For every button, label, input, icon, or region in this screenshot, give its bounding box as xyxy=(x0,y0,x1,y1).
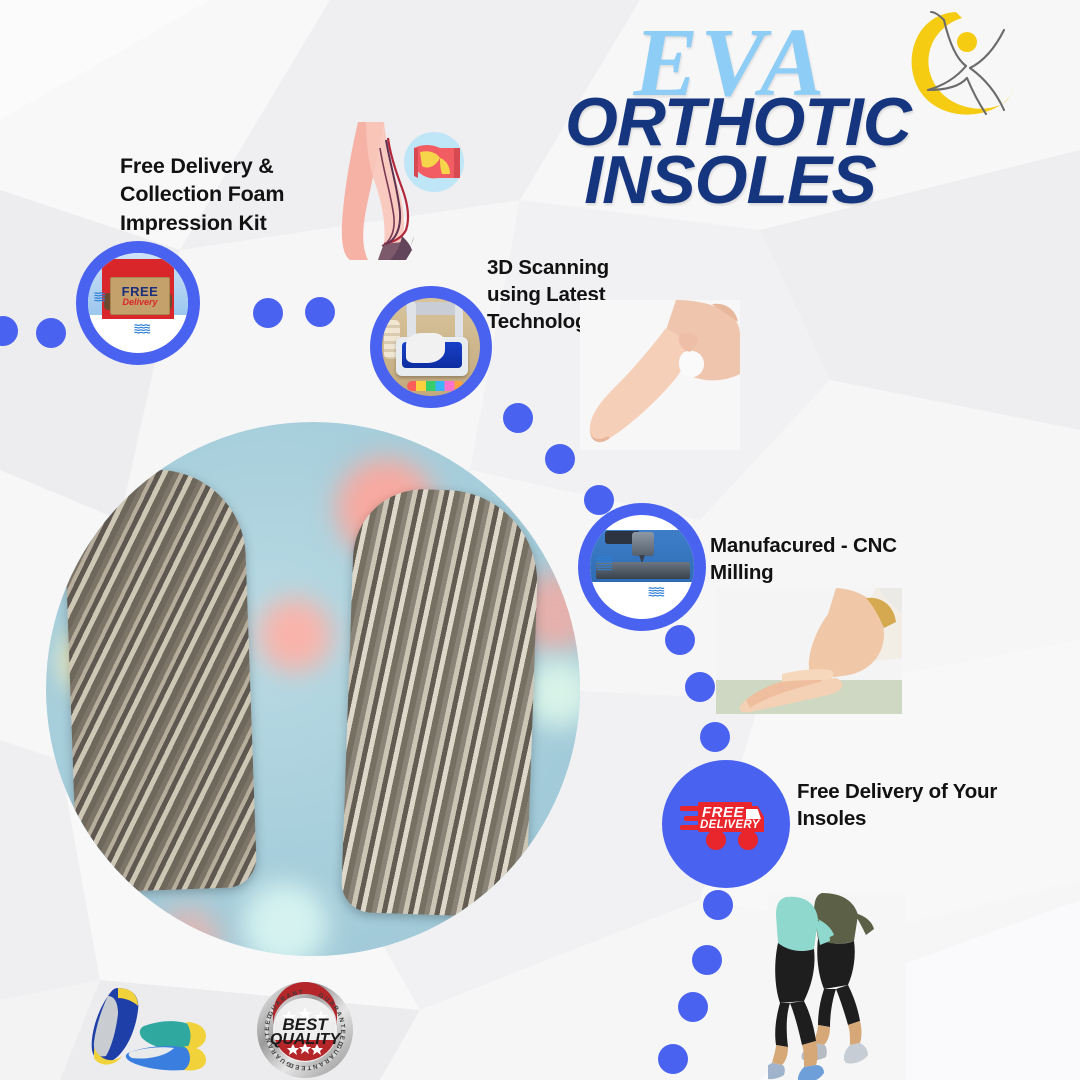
eva-insole-blanks-photo xyxy=(46,422,580,956)
path-dot xyxy=(703,890,733,920)
step-icon-free-delivery-kit[interactable]: FREE Delivery ≈≈≈≈ ≈≈≈≈≈≈ xyxy=(76,241,200,365)
kit-delivery-label: Delivery xyxy=(122,298,157,308)
step-icon-3d-scanner[interactable] xyxy=(370,286,492,408)
title-insoles: INSOLES xyxy=(565,148,895,213)
step-icon-delivery-truck[interactable]: FREE DELIVERY xyxy=(662,760,790,888)
path-dot xyxy=(305,297,335,327)
blue-yellow-insoles-photo xyxy=(74,986,224,1072)
delivery-truck-icon: FREE DELIVERY xyxy=(680,796,772,852)
path-dot xyxy=(36,318,66,348)
infographic-poster: EVA ORTHOTIC INSOLES xyxy=(0,0,1080,1080)
path-dot xyxy=(503,403,533,433)
caption-free-delivery-insoles: Free Delivery of Your Insoles xyxy=(797,778,1007,832)
path-dot xyxy=(678,992,708,1022)
truck-delivery-label: DELIVERY xyxy=(700,820,760,832)
path-dot xyxy=(253,298,283,328)
svg-text:QUALITY: QUALITY xyxy=(270,1031,342,1048)
wave-decoration: ≈≈≈≈≈≈≈≈≈ xyxy=(596,557,611,572)
page-title: EVA ORTHOTIC INSOLES xyxy=(565,18,895,212)
people-walking-photo xyxy=(768,893,906,1080)
caption-cnc-milling: Manufacured - CNC Milling xyxy=(710,532,930,586)
step-icon-cnc-milling[interactable]: ≈≈≈≈≈≈≈≈≈ ≈≈≈≈≈≈ xyxy=(578,503,706,631)
path-dot xyxy=(658,1044,688,1074)
woman-massaging-foot-photo xyxy=(716,588,902,714)
insole-blank-left xyxy=(63,467,258,893)
kit-free-label: FREE xyxy=(122,285,159,298)
hand-holding-foot-photo xyxy=(580,300,740,450)
wave-decoration: ≈≈≈≈≈≈ xyxy=(648,588,663,598)
wave-decoration: ≈≈≈≈ xyxy=(94,293,104,303)
path-dot xyxy=(665,625,695,655)
truck-free-label: FREE xyxy=(702,805,744,820)
path-dot xyxy=(545,444,575,474)
insole-blank-right xyxy=(341,487,541,918)
best-quality-guaranteed-seal: BEST QUALITY GUARANTEED GUARANTEED GUARA… xyxy=(243,980,367,1080)
caption-free-delivery-kit: Free Delivery & Collection Foam Impressi… xyxy=(120,152,350,237)
crescent-star-person-logo xyxy=(898,6,1028,124)
path-dot xyxy=(692,945,722,975)
wave-decoration: ≈≈≈≈≈≈ xyxy=(134,325,149,335)
path-dot xyxy=(685,672,715,702)
path-dot xyxy=(700,722,730,752)
